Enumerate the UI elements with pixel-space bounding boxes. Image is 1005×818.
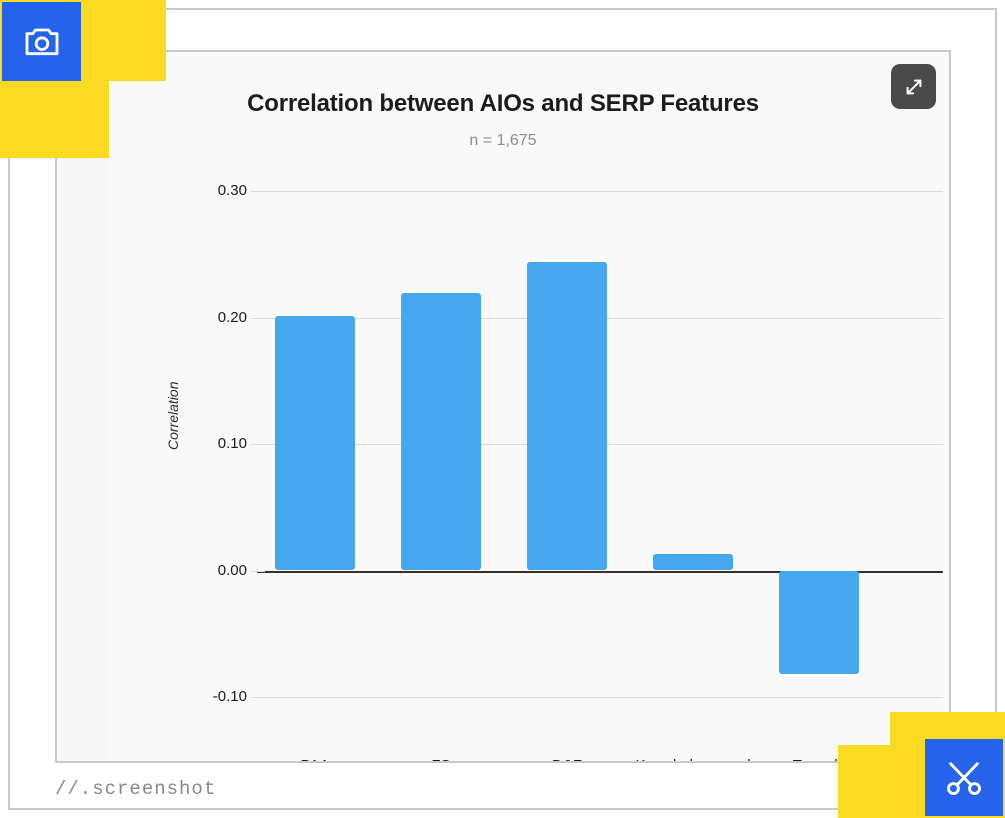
gridline xyxy=(257,191,943,192)
camera-icon xyxy=(19,22,65,62)
screenshot-caption: //.screenshot xyxy=(55,778,216,800)
x-axis-tick-label: FS xyxy=(431,757,450,763)
y-axis-tick-label: 0.10 xyxy=(187,435,247,452)
y-tick-mark xyxy=(251,444,265,445)
y-tick-mark xyxy=(251,571,265,572)
x-axis-tick-label: D&F xyxy=(552,757,582,763)
y-tick-mark xyxy=(251,697,265,698)
x-axis-tick-label: PAA xyxy=(301,757,330,763)
bar[interactable] xyxy=(653,554,733,570)
x-axis-tick-label: Knowledge panel xyxy=(635,757,750,763)
y-axis-label: Correlation xyxy=(165,382,181,450)
bar[interactable] xyxy=(527,262,607,571)
y-axis-tick-label: 0.00 xyxy=(187,562,247,579)
y-axis-tick-label: 0.30 xyxy=(187,182,247,199)
bar[interactable] xyxy=(275,316,355,570)
decoration-blue-top-left xyxy=(2,2,81,81)
bar[interactable] xyxy=(401,293,481,570)
plot-area: 0.300.200.100.00-0.10CorrelationPAAFSD&F… xyxy=(57,52,949,761)
screenshot-page: Correlation between AIOs and SERP Featur… xyxy=(0,0,1005,818)
y-axis-tick-label: 0.20 xyxy=(187,309,247,326)
scissors-icon xyxy=(941,755,987,801)
gridline xyxy=(257,697,943,698)
decoration-blue-bottom-right xyxy=(925,739,1003,816)
y-tick-mark xyxy=(251,191,265,192)
chart-card: Correlation between AIOs and SERP Featur… xyxy=(55,50,951,763)
bar[interactable] xyxy=(779,571,859,675)
y-axis-tick-label: -0.10 xyxy=(187,688,247,705)
y-tick-mark xyxy=(251,318,265,319)
